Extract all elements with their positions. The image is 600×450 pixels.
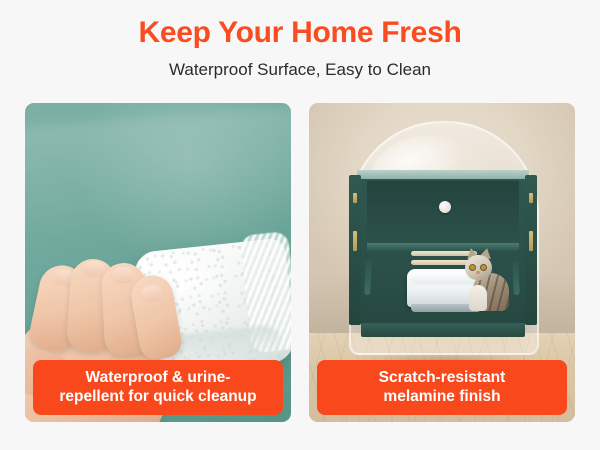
feature-panels: Waterproof & urine- repellent for quick … — [25, 103, 575, 422]
panel-caption-scratch-resistant: Scratch-resistant melamine finish — [317, 360, 567, 415]
panel-caption-waterproof: Waterproof & urine- repellent for quick … — [33, 360, 283, 415]
caption-line-1: Waterproof & urine- — [86, 369, 231, 386]
caption-line-1: Scratch-resistant — [379, 369, 506, 386]
page-subtitle: Waterproof Surface, Easy to Clean — [0, 60, 600, 80]
cabinet-legs — [309, 261, 575, 295]
cabinet-door-left — [349, 175, 361, 325]
caption-line-2: melamine finish — [383, 388, 500, 405]
cabinet-shelf — [367, 243, 519, 251]
caption-line-2: repellent for quick cleanup — [59, 388, 256, 405]
feature-panel-waterproof[interactable]: Waterproof & urine- repellent for quick … — [25, 103, 291, 422]
cat-cabinet — [361, 177, 525, 335]
feature-panel-scratch-resistant[interactable]: Scratch-resistant melamine finish — [309, 103, 575, 422]
cabinet-base-rail — [361, 323, 525, 337]
cabinet-knob — [439, 201, 451, 213]
cabinet-door-right — [525, 175, 537, 325]
page-title: Keep Your Home Fresh — [0, 16, 600, 51]
header: Keep Your Home Fresh Waterproof Surface,… — [0, 0, 600, 80]
